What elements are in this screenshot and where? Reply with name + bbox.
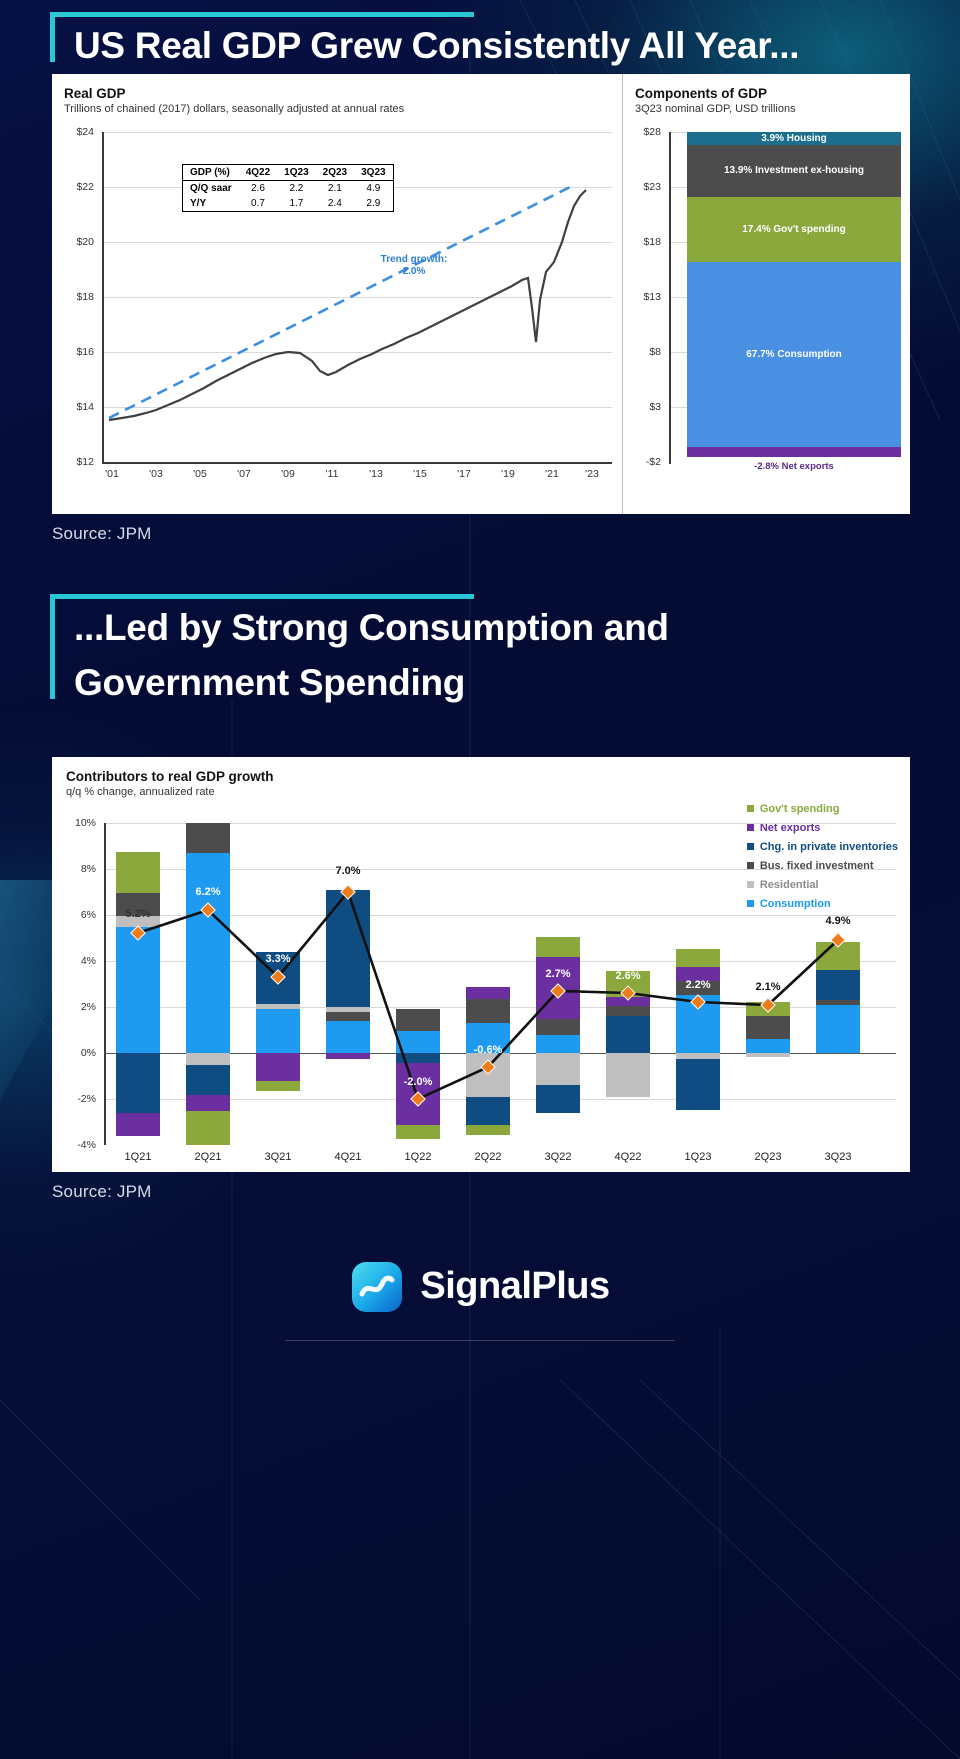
gdp-inset-table: GDP (%) 4Q22 1Q23 2Q23 3Q23 Q/Q saar 2.6… [182,164,394,212]
chart-subtitle-components: 3Q23 nominal GDP, USD trillions [635,103,902,115]
signalplus-logo-icon [350,1260,404,1314]
seg-bus-fixed [746,1016,790,1039]
xtick: 1Q22 [405,1151,432,1163]
footer: SignalPlus [0,1260,960,1341]
brand-name: SignalPlus [420,1265,609,1308]
seg-consumption [816,1005,860,1053]
row-label-yy: Y/Y [183,196,239,211]
trend-label-line2: 2.0% [403,266,426,277]
xtick: '07 [237,468,251,480]
seg-net-exports [256,1053,300,1081]
ytick-13: $13 [631,291,661,303]
source-label-1: Source: JPM [52,524,960,544]
value-label-3Q23: 4.9% [825,915,850,927]
value-label-3Q22: 2.7% [545,968,570,980]
seg-inventories [186,1065,230,1095]
seg-govt [466,1125,510,1135]
ytick-18: $18 [631,236,661,248]
bar-3Q21 [256,813,300,1163]
ytick-2: 2% [66,1001,96,1013]
ytick-28: $28 [631,126,661,138]
cell: 2.9 [354,196,392,211]
cell: 2.2 [277,180,315,196]
xtick: 2Q23 [755,1151,782,1163]
seg-net-exports [116,1113,160,1136]
seg-bus-fixed [326,1012,370,1021]
source-label-2: Source: JPM [52,1182,960,1202]
ytick-neg2: -2% [66,1093,96,1105]
components-of-gdp-panel: Components of GDP 3Q23 nominal GDP, USD … [622,74,910,514]
seg-inventories [396,1053,440,1063]
row-label-qq: Q/Q saar [183,180,239,196]
xtick: '03 [149,468,163,480]
xtick: 4Q21 [335,1151,362,1163]
xtick: 3Q22 [545,1151,572,1163]
accent-bracket-vertical [50,12,55,62]
chart-subtitle-real-gdp: Trillions of chained (2017) dollars, sea… [64,103,616,115]
seg-residential [536,1053,580,1085]
segment-housing: 3.9% Housing [687,132,901,145]
xtick: '11 [326,468,339,480]
value-label-2Q21: 6.2% [195,886,220,898]
ytick-8: $8 [631,346,661,358]
real-gdp-plot: $24 $22 $20 $18 $16 $14 $12 [64,122,612,494]
chart-subtitle-contributors: q/q % change, annualized rate [66,786,910,798]
xtick: '17 [457,468,471,480]
ytick-neg4: -4% [66,1139,96,1151]
seg-govt [396,1125,440,1139]
contributors-chart-card: Contributors to real GDP growth q/q % ch… [52,757,910,1172]
y-axis [104,823,106,1145]
ytick-8: 8% [66,863,96,875]
segment-investment-ex-housing: 13.9% Investment ex-housing [687,145,901,197]
ytick-10: 10% [66,817,96,829]
chart-title-real-gdp: Real GDP [64,86,616,101]
contributors-plot: 10% 8% 6% 4% 2% 0% -2% -4% [66,813,896,1163]
table-row: Q/Q saar 2.6 2.2 2.1 4.9 [183,180,393,196]
value-label-1Q21: 5.2% [125,908,150,920]
seg-consumption [256,1009,300,1053]
value-label-3Q21: 3.3% [265,953,290,965]
th-4q22: 4Q22 [239,165,277,181]
accent-bracket-horizontal [50,594,474,599]
legend-swatch-icon [747,805,754,812]
ytick-23: $23 [631,181,661,193]
bar-3Q23 [816,813,860,1163]
gdp-table: GDP (%) 4Q22 1Q23 2Q23 3Q23 Q/Q saar 2.6… [183,165,393,211]
segment-net-exports-bar [687,447,901,457]
seg-residential [256,1004,300,1009]
seg-govt [116,852,160,893]
accent-bracket-vertical [50,594,55,699]
bar-1Q21 [116,813,160,1163]
seg-bus-fixed [186,823,230,853]
seg-bus-fixed [466,999,510,1023]
xtick: '23 [585,468,599,480]
xtick: '13 [369,468,383,480]
seg-govt [676,949,720,967]
seg-net-exports [186,1095,230,1111]
chart-title-components: Components of GDP [635,86,902,101]
cell: 0.7 [239,196,277,211]
value-label-1Q22: -2.0% [404,1076,433,1088]
seg-bus-fixed [816,1000,860,1005]
th-1q23: 1Q23 [277,165,315,181]
seg-consumption [326,1021,370,1053]
seg-consumption [746,1039,790,1053]
seg-govt [256,1081,300,1091]
seg-residential [186,1053,230,1065]
trend-label-line1: Trend growth: [381,254,448,265]
real-gdp-panel: Real GDP Trillions of chained (2017) dol… [52,74,622,514]
th-gdp: GDP (%) [183,165,239,181]
value-label-4Q21: 7.0% [335,865,360,877]
seg-consumption [536,1035,580,1053]
xtick: '15 [413,468,427,480]
seg-consumption [116,927,160,1053]
seg-consumption [186,853,230,1053]
xtick: 3Q23 [825,1151,852,1163]
seg-inventories [676,1059,720,1110]
headline-block-2: ...Led by Strong Consumption and Governm… [50,582,960,711]
seg-residential [746,1053,790,1057]
xtick: 3Q21 [265,1151,292,1163]
seg-inventories [606,1016,650,1053]
seg-bus-fixed [606,1006,650,1016]
segment-consumption: 67.7% Consumption [687,262,901,447]
seg-residential [326,1007,370,1012]
seg-inventories [816,970,860,1000]
th-3q23: 3Q23 [354,165,392,181]
table-header-row: GDP (%) 4Q22 1Q23 2Q23 3Q23 [183,165,393,181]
brand-logo: SignalPlus [350,1260,609,1314]
ytick-6: 6% [66,909,96,921]
cell: 4.9 [354,180,392,196]
cell: 2.1 [316,180,354,196]
gdp-components-stacked-bar: 3.9% Housing 13.9% Investment ex-housing… [687,132,901,464]
value-label-2Q22: -0.6% [474,1044,503,1056]
seg-govt [536,937,580,957]
seg-residential [606,1053,650,1097]
seg-inventories [326,890,370,1007]
segment-net-exports-label: -2.8% Net exports [687,457,901,477]
chart-title-contributors: Contributors to real GDP growth [66,769,910,784]
accent-bracket-horizontal [50,12,474,17]
real-gdp-chart-card: Real GDP Trillions of chained (2017) dol… [52,74,910,514]
table-row: Y/Y 0.7 1.7 2.4 2.9 [183,196,393,211]
xtick: 2Q21 [195,1151,222,1163]
seg-bus-fixed [536,1019,580,1035]
ytick-4: 4% [66,955,96,967]
cell: 2.6 [239,180,277,196]
value-label-1Q23: 2.2% [685,979,710,991]
seg-bus-fixed [396,1009,440,1031]
bar-2Q21 [186,813,230,1163]
seg-inventories [116,1053,160,1113]
cell: 1.7 [277,196,315,211]
value-label-4Q22: 2.6% [615,970,640,982]
ytick-0: 0% [66,1047,96,1059]
page-title-2: ...Led by Strong Consumption and Governm… [74,600,804,711]
components-plot: $28 $23 $18 $13 $8 $3 -$2 3.9% Housing 1… [631,122,901,494]
trend-line [109,185,574,418]
bar-1Q22 [396,813,440,1163]
bar-2Q22 [466,813,510,1163]
footer-divider [285,1340,675,1341]
cell: 2.4 [316,196,354,211]
seg-inventories [466,1097,510,1125]
ytick-neg2: -$2 [631,456,661,468]
xtick: '09 [281,468,295,480]
xtick: 4Q22 [615,1151,642,1163]
seg-consumption [396,1031,440,1053]
headline-block-1: US Real GDP Grew Consistently All Year..… [50,0,960,74]
xtick: '01 [105,468,119,480]
xtick: '21 [545,468,559,480]
seg-govt [186,1111,230,1145]
xtick: 1Q23 [685,1151,712,1163]
xtick: 2Q22 [475,1151,502,1163]
xtick: 1Q21 [125,1151,152,1163]
ytick-3: $3 [631,401,661,413]
seg-net-exports [326,1053,370,1059]
seg-inventories [536,1085,580,1113]
page-title-1: US Real GDP Grew Consistently All Year..… [74,18,804,74]
gdp-line [109,190,586,420]
value-label-2Q23: 2.1% [755,981,780,993]
xtick: '05 [193,468,207,480]
th-2q23: 2Q23 [316,165,354,181]
seg-net-exports [466,987,510,999]
segment-govt-spending: 17.4% Gov't spending [687,197,901,262]
y-axis [669,132,671,464]
xtick: '19 [501,468,515,480]
trend-growth-annotation: Trend growth: 2.0% [364,254,464,279]
